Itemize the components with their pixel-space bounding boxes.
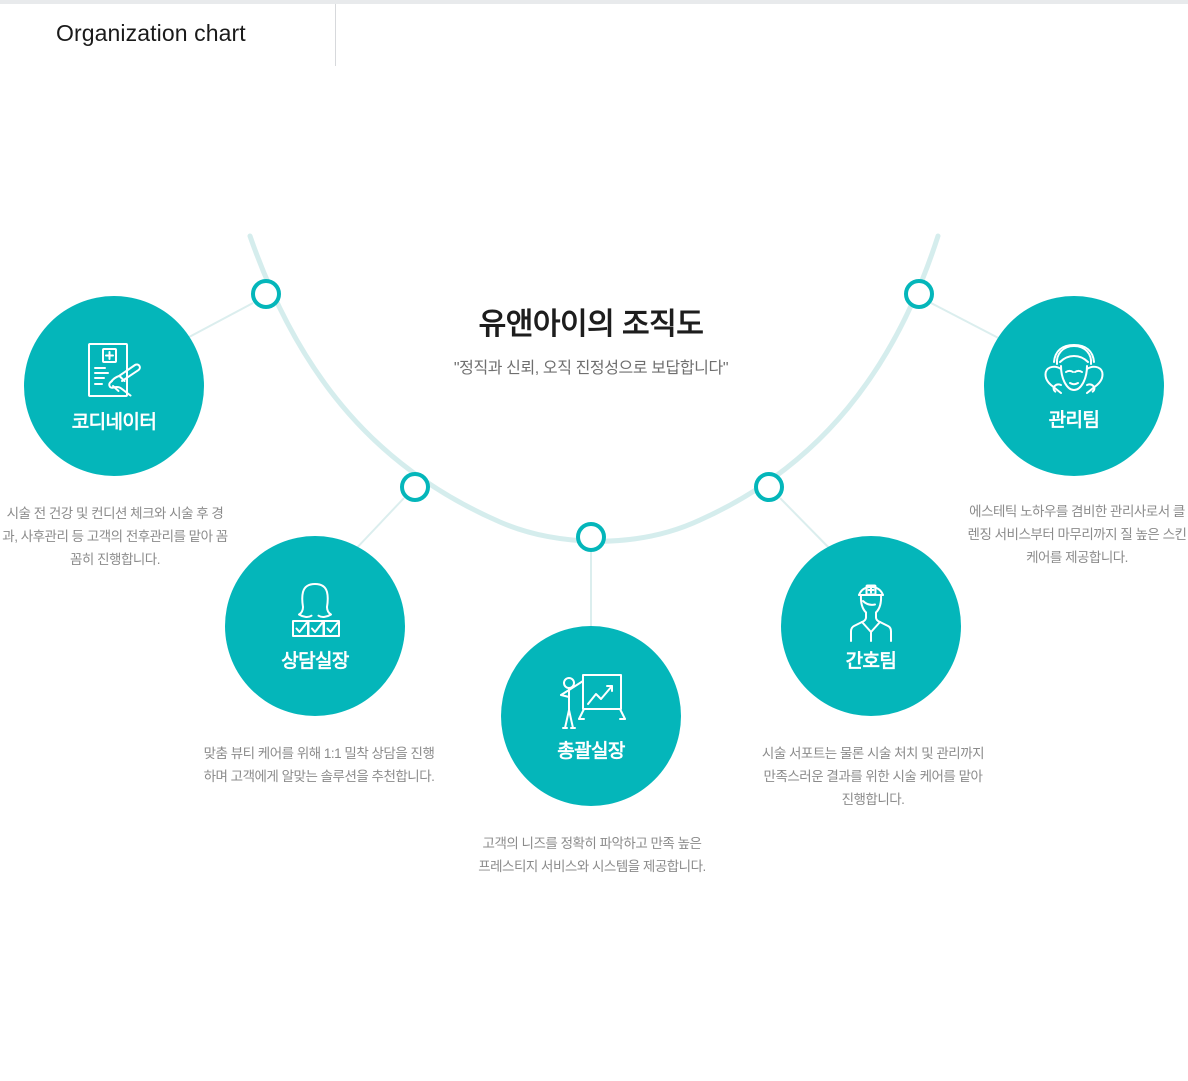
presenter-chart-board-icon — [555, 671, 627, 740]
connector-node-mid-left — [402, 474, 428, 500]
role-circle-nursing[interactable]: 간호팀 — [781, 536, 961, 716]
connector-node-right — [906, 281, 932, 307]
connector-node-center — [578, 524, 604, 550]
branch-line-consult — [352, 498, 404, 553]
connector-node-left — [253, 281, 279, 307]
role-circle-care[interactable]: 관리팀 — [984, 296, 1164, 476]
role-circle-coordinator[interactable]: 코디네이터 — [24, 296, 204, 476]
nurse-cap-icon — [835, 581, 907, 650]
role-label-coordinator: 코디네이터 — [72, 413, 156, 432]
connector-node-mid-right — [756, 474, 782, 500]
clipboard-hand-writing-icon — [76, 340, 152, 411]
organization-chart-diagram: 유앤아이의 조직도 "정직과 신뢰, 오직 진정성으로 보답합니다" 코디네이터 — [0, 0, 1188, 1081]
role-description-care: 에스테틱 노하우를 겸비한 관리사로서 클렌징 서비스부터 마무리까지 질 높은… — [965, 500, 1188, 570]
main-arc-path — [250, 236, 938, 541]
chart-subtitle: "정직과 신뢰, 오직 진정성으로 보답합니다" — [366, 354, 816, 378]
branch-line-nursing — [780, 498, 834, 553]
role-description-general: 고객의 니즈를 정확히 파악하고 만족 높은 프레스티지 서비스와 시스템을 제… — [478, 832, 706, 878]
role-label-nursing: 간호팀 — [846, 652, 897, 671]
role-label-care: 관리팀 — [1049, 411, 1100, 430]
role-description-consult: 맞춤 뷰티 케어를 위해 1:1 밀착 상담을 진행하며 고객에게 알맞는 솔루… — [203, 742, 435, 788]
role-label-general: 총괄실장 — [557, 742, 625, 761]
facial-care-hands-icon — [1034, 342, 1114, 409]
role-circle-consult[interactable]: 상담실장 — [225, 536, 405, 716]
chart-heading-block: 유앤아이의 조직도 "정직과 신뢰, 오직 진정성으로 보답합니다" — [366, 306, 816, 378]
role-description-nursing: 시술 서포트는 물론 시술 처치 및 관리까지 만족스러운 결과를 위한 시술 … — [758, 742, 988, 812]
role-label-consult: 상담실장 — [281, 652, 349, 671]
role-circle-general[interactable]: 총괄실장 — [501, 626, 681, 806]
person-checklist-icon — [277, 581, 353, 650]
chart-title: 유앤아이의 조직도 — [366, 306, 816, 344]
role-description-coordinator: 시술 전 건강 및 컨디션 체크와 시술 후 경과, 사후관리 등 고객의 전후… — [0, 502, 230, 572]
